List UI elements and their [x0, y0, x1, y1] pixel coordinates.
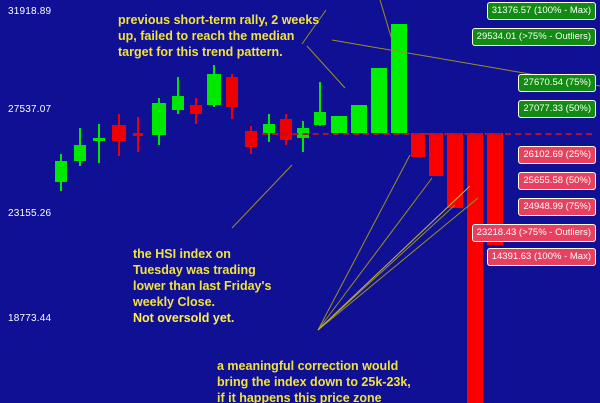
downside-target-tag[interactable]: 24948.99 (75%) [518, 198, 596, 216]
annotation-mid-note: the HSI index on Tuesday was trading low… [133, 230, 333, 326]
upside-target-tag[interactable]: 27077.33 (50%) [518, 100, 596, 118]
upside-target-tag[interactable]: 29534.01 (>75% - Outliers) [472, 28, 596, 46]
downside-target-tag[interactable]: 25655.58 (50%) [518, 172, 596, 190]
chart-canvas: 31918.89 27537.07 23155.26 18773.44 3137… [0, 0, 600, 403]
downside-target-tag[interactable]: 14391.63 (100% - Max) [487, 248, 596, 266]
annotation-mid-note-text: the HSI index on Tuesday was trading low… [133, 247, 271, 309]
annotation-mid-note-emphasis: Not oversold yet. [133, 311, 234, 325]
downside-target-tag[interactable]: 26102.69 (25%) [518, 146, 596, 164]
downside-target-tag[interactable]: 23218.43 (>75% - Outliers) [472, 224, 596, 242]
annotation-bottom-note: a meaningful correction would bring the … [217, 358, 467, 403]
upside-target-tag[interactable]: 31376.57 (100% - Max) [487, 2, 596, 20]
annotation-leader-lines [0, 0, 600, 403]
annotation-top-note: previous short-term rally, 2 weeks up, f… [118, 12, 348, 60]
upside-target-tag[interactable]: 27670.54 (75%) [518, 74, 596, 92]
